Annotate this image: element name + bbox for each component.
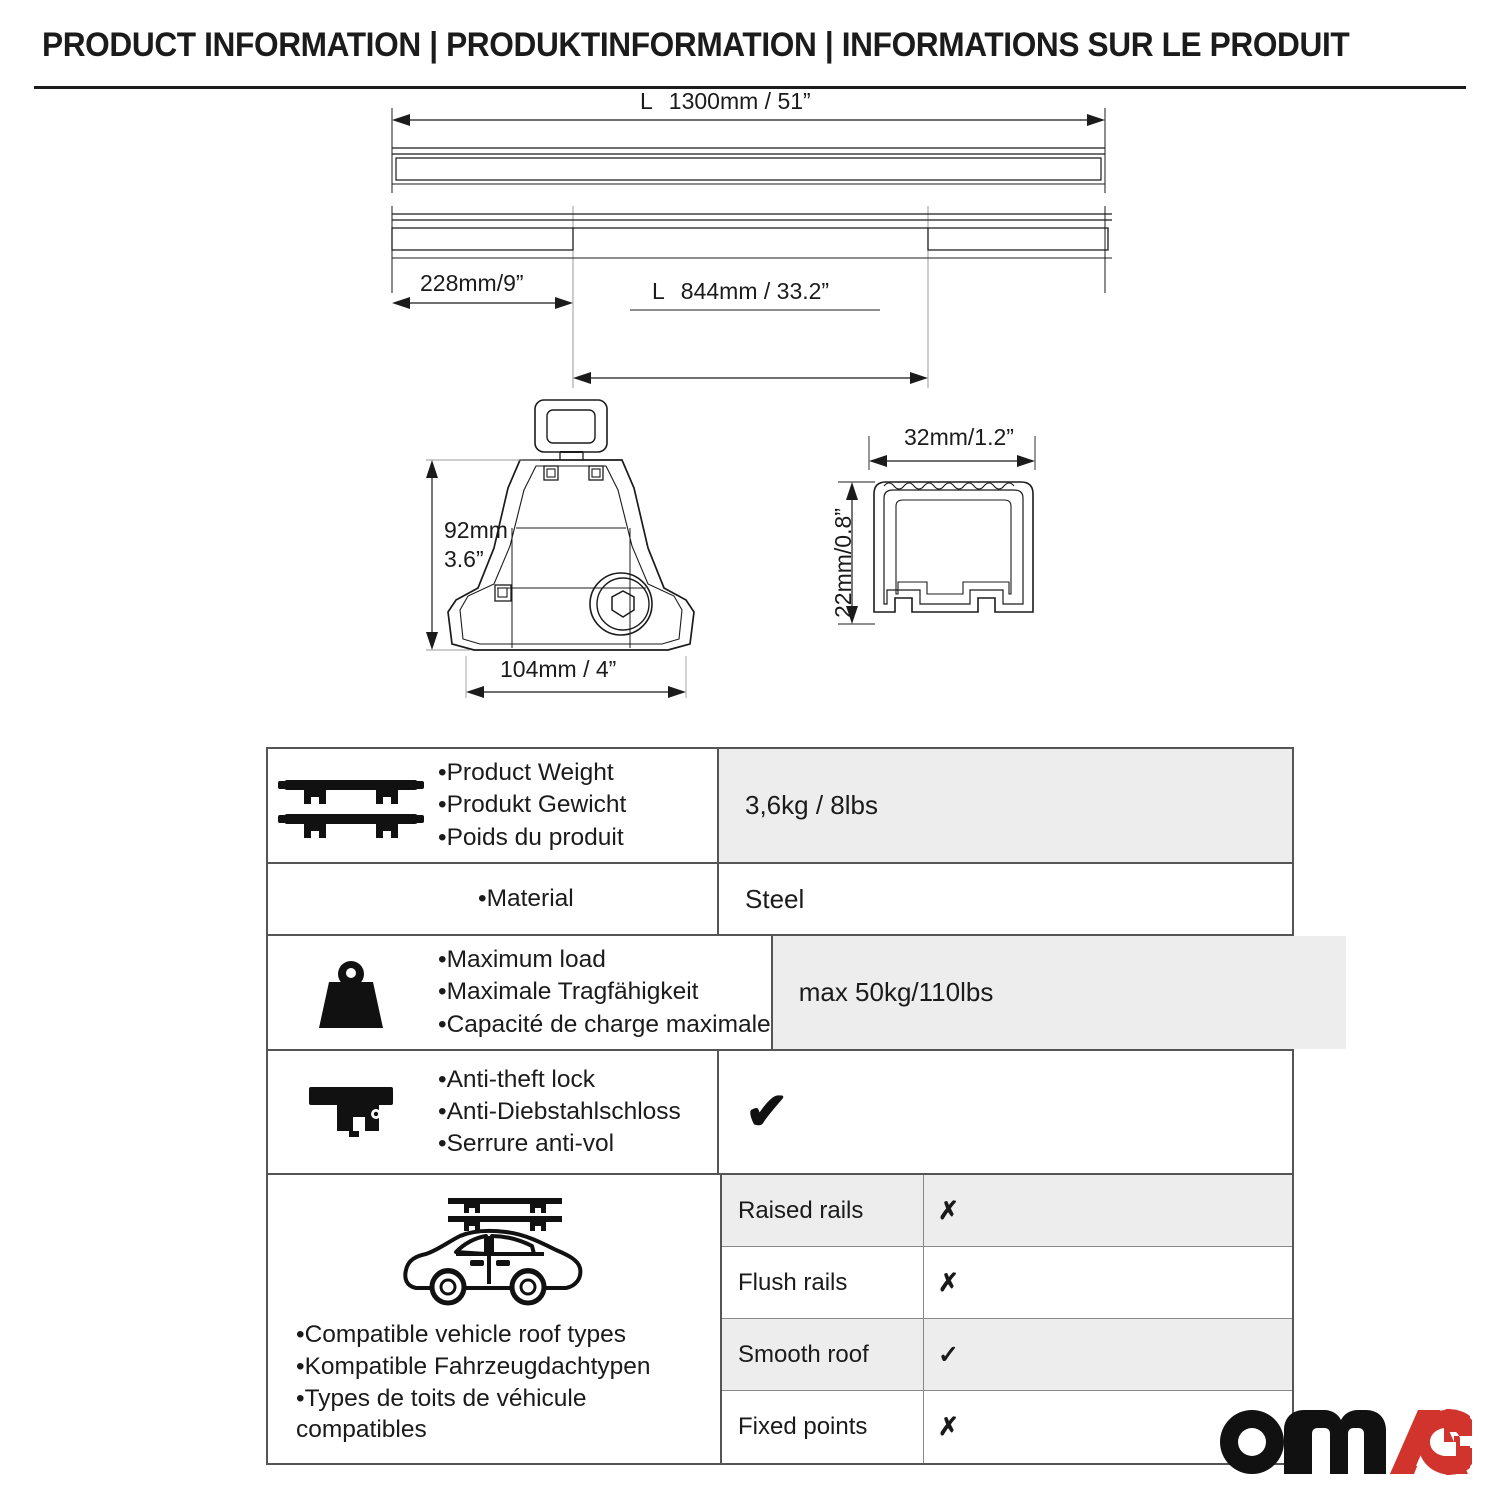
page-header: PRODUCT INFORMATION | PRODUKTINFORMATION…	[0, 0, 1500, 86]
roof-type-row-raised-rails: Raised rails ✗	[722, 1175, 1292, 1247]
check-mark-icon: ✔	[745, 1086, 789, 1138]
table-value-anti-theft-lock: ✔	[717, 1051, 1292, 1173]
table-label-max-load: •Maximum load •Maximale Tragfähigkeit •C…	[434, 936, 771, 1049]
cross-icon: ✗	[924, 1247, 1292, 1318]
table-value-product-weight: 3,6kg / 8lbs	[717, 749, 1292, 862]
roof-type-name: Smooth roof	[722, 1319, 924, 1390]
table-row-material: •Material Steel	[268, 864, 1292, 936]
dimension-drawing-svg	[0, 88, 1500, 738]
roof-bars-icon	[268, 749, 434, 862]
cross-icon: ✗	[924, 1175, 1292, 1246]
specification-table: •Product Weight •Produkt Gewicht •Poids …	[266, 747, 1294, 1465]
dim-bar-length-value: 1300mm / 51”	[669, 88, 811, 114]
dim-foot-offset: 228mm/9”	[420, 270, 524, 297]
car-with-roof-bars-icon	[394, 1192, 594, 1315]
table-label-product-weight: •Product Weight •Produkt Gewicht •Poids …	[434, 749, 717, 862]
lock-icon	[268, 1051, 434, 1173]
dim-span-length-value: 844mm / 33.2”	[681, 278, 829, 304]
dim-foot-width: 104mm / 4”	[500, 656, 616, 683]
table-row-roof-compatibility: •Compatible vehicle roof types •Kompatib…	[268, 1175, 1292, 1463]
roof-type-name: Fixed points	[722, 1391, 924, 1463]
dim-span-length: L844mm / 33.2”	[652, 278, 829, 305]
dim-bar-length: L1300mm / 51”	[640, 88, 811, 115]
dim-span-length-prefix: L	[652, 278, 665, 304]
dim-profile-width: 32mm/1.2”	[904, 424, 1014, 451]
dim-bar-length-prefix: L	[640, 88, 653, 114]
omac-logo	[1218, 1408, 1472, 1476]
technical-drawings: L1300mm / 51” 228mm/9” L844mm / 33.2” 92…	[0, 88, 1500, 738]
table-row-max-load: •Maximum load •Maximale Tragfähigkeit •C…	[268, 936, 1292, 1051]
table-value-material: Steel	[717, 864, 1292, 934]
table-label-anti-theft-lock: •Anti-theft lock •Anti-Diebstahlschloss …	[434, 1051, 717, 1173]
table-value-max-load: max 50kg/110lbs	[771, 936, 1346, 1049]
compat-left-cell: •Compatible vehicle roof types •Kompatib…	[268, 1175, 720, 1463]
check-icon: ✓	[924, 1319, 1292, 1390]
roof-type-name: Raised rails	[722, 1175, 924, 1246]
roof-types-list: Raised rails ✗ Flush rails ✗ Smooth roof…	[720, 1175, 1292, 1463]
table-label-roof-compatibility: •Compatible vehicle roof types •Kompatib…	[278, 1319, 651, 1446]
page-title: PRODUCT INFORMATION | PRODUKTINFORMATION…	[42, 26, 1349, 65]
dim-profile-height: 22mm/0.8”	[830, 508, 857, 618]
roof-type-name: Flush rails	[722, 1247, 924, 1318]
table-label-material: •Material	[434, 864, 717, 934]
roof-type-row-smooth-roof: Smooth roof ✓	[722, 1319, 1292, 1391]
table-row-anti-theft-lock: •Anti-theft lock •Anti-Diebstahlschloss …	[268, 1051, 1292, 1175]
roof-type-row-fixed-points: Fixed points ✗	[722, 1391, 1292, 1463]
material-icon-placeholder	[268, 864, 434, 934]
roof-type-row-flush-rails: Flush rails ✗	[722, 1247, 1292, 1319]
dim-foot-height: 92mm 3.6”	[444, 516, 508, 574]
table-row-product-weight: •Product Weight •Produkt Gewicht •Poids …	[268, 749, 1292, 864]
weight-icon	[268, 936, 434, 1049]
